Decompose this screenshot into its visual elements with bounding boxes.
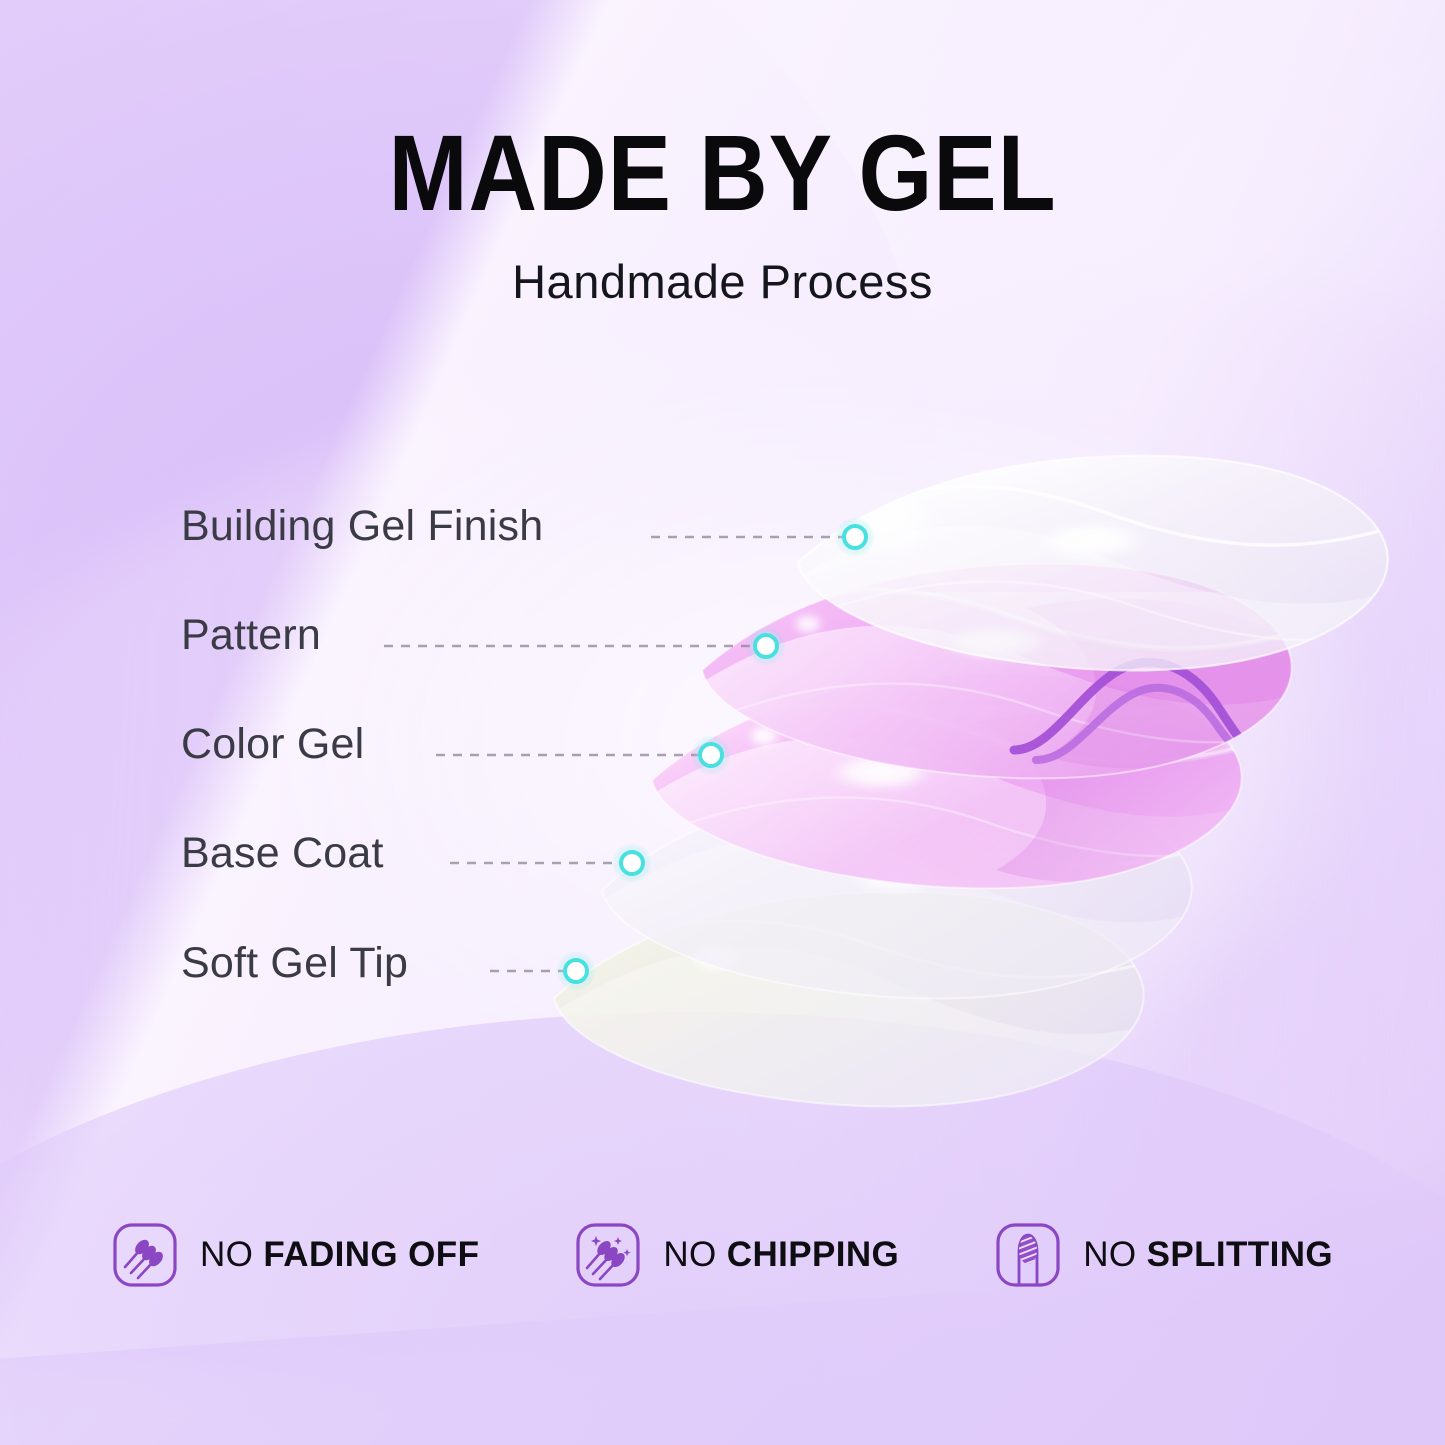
feature-badge-row: NO FADING OFF [0, 1222, 1445, 1288]
striped-nail-icon [995, 1222, 1061, 1288]
poster-canvas: MADE BY GEL Handmade Process [0, 0, 1445, 1445]
layer-label-pattern: Pattern [181, 614, 321, 657]
three-nails-sparkle-icon [575, 1222, 641, 1288]
badge-keyword-no-fading-off: FADING OFF [263, 1235, 479, 1274]
badge-no-splitting: NO SPLITTING [995, 1222, 1333, 1288]
layer-label-base-coat: Base Coat [181, 832, 384, 875]
badge-no-chipping: NO CHIPPING [575, 1222, 899, 1288]
badge-prefix-no-fading-off: NO [200, 1235, 263, 1274]
three-nails-icon [112, 1222, 178, 1288]
badge-keyword-no-splitting: SPLITTING [1147, 1235, 1333, 1274]
badge-label-no-chipping: NO CHIPPING [663, 1235, 899, 1275]
badge-prefix-no-splitting: NO [1083, 1235, 1146, 1274]
layer-label-building-gel-finish: Building Gel Finish [181, 505, 543, 548]
layer-label-soft-gel-tip: Soft Gel Tip [181, 942, 408, 985]
layer-label-color-gel: Color Gel [181, 723, 364, 766]
badge-keyword-no-chipping: CHIPPING [727, 1235, 899, 1274]
badge-label-no-fading-off: NO FADING OFF [200, 1235, 479, 1275]
badge-label-no-splitting: NO SPLITTING [1083, 1235, 1333, 1275]
badge-no-fading-off: NO FADING OFF [112, 1222, 479, 1288]
badge-prefix-no-chipping: NO [663, 1235, 726, 1274]
